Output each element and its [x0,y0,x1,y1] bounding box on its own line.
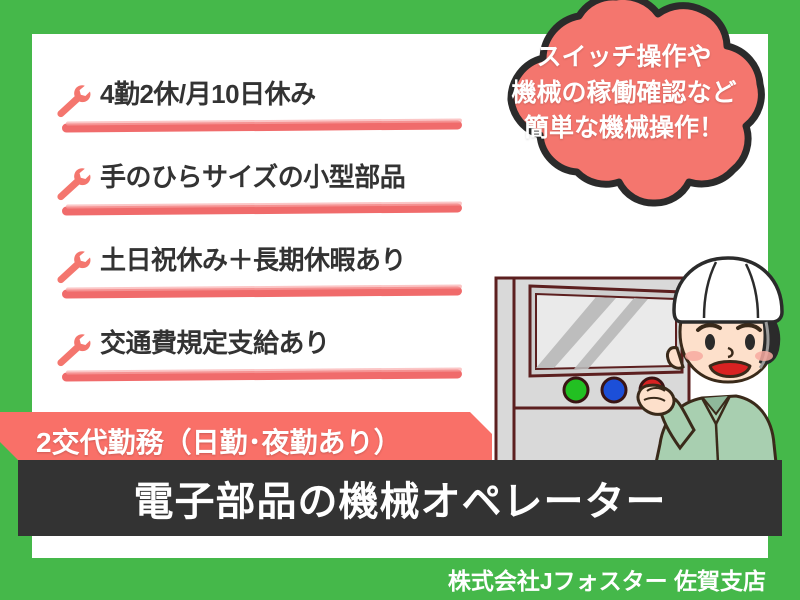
blush-right [755,351,773,361]
benefit-label: 交通費規定支給あり [100,323,330,360]
wrench-icon [52,246,94,288]
job-title-bar: 電子部品の機械オペレーター [18,460,782,536]
wrench-icon [52,163,94,205]
benefit-label: 土日祝休み＋長期休暇あり [100,240,406,277]
benefits-list: 4勤2休/月10日休み 手のひらサイズの小型部品 土日祝休み＋長期休暇あり [44,72,474,404]
benefit-underline [62,203,462,215]
job-advertisement-poster: 4勤2休/月10日休み 手のひらサイズの小型部品 土日祝休み＋長期休暇あり [0,0,800,600]
benefit-item: 4勤2休/月10日休み [44,72,474,155]
wrench-icon [52,80,94,122]
benefit-item: 土日祝休み＋長期休暇あり [44,238,474,321]
blue-button [602,378,626,402]
company-name: 株式会社Jフォスター 佐賀支店 [448,562,766,596]
job-title: 電子部品の機械オペレーター [18,460,782,536]
benefit-item: 交通費規定支給あり [44,321,474,404]
benefit-underline [62,286,462,298]
machine-cabinet [496,278,689,463]
machine-operator-illustration [484,248,784,463]
work-schedule-ribbon: 2交代勤務（日勤･夜勤あり） [0,412,492,464]
benefit-item: 手のひらサイズの小型部品 [44,155,474,238]
eye-right [745,334,755,350]
benefit-label: 手のひらサイズの小型部品 [100,157,405,194]
speech-bubble-shape [448,0,800,248]
blush-left [685,351,703,361]
work-schedule-label: 2交代勤務（日勤･夜勤あり） [36,421,402,461]
eye-left [705,334,715,350]
green-button [564,378,588,402]
benefit-underline [62,369,462,381]
wrench-icon [52,329,94,371]
benefit-label: 4勤2休/月10日休み [100,74,316,111]
benefit-underline [62,120,462,132]
speech-bubble: スイッチ操作や 機械の稼働確認など 簡単な機械操作！ [448,0,800,248]
